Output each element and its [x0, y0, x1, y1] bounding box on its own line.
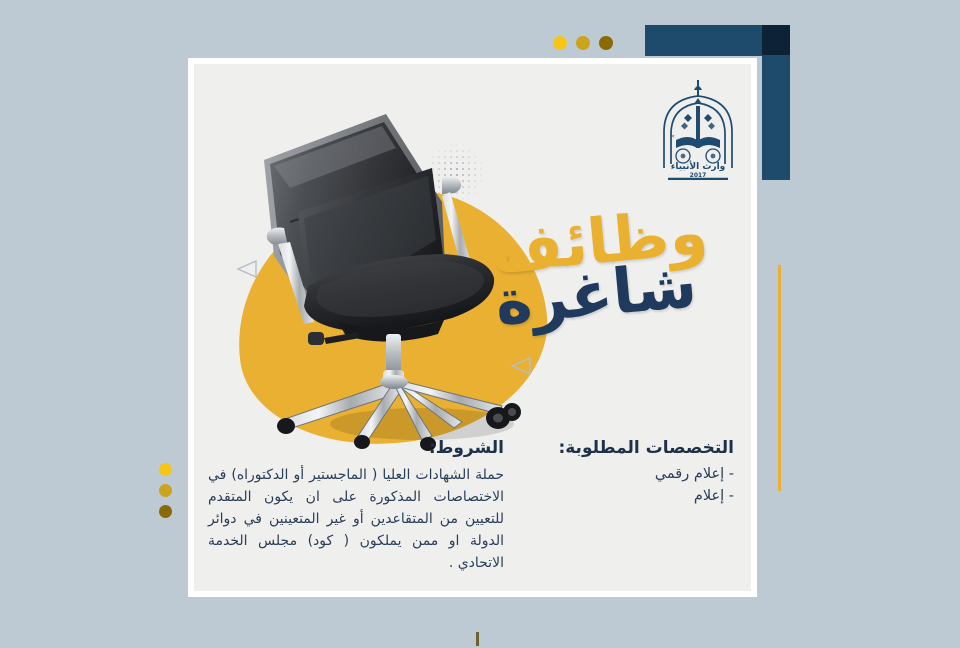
dot-dark-gold-icon	[599, 36, 613, 50]
poster-card-inner: UNIVERSITY OF WARITH AL-ANBIYAA	[194, 64, 751, 591]
dot-gold-icon	[576, 36, 590, 50]
navy-vertical-bar-decoration	[762, 55, 790, 180]
navy-square-decoration	[762, 25, 790, 55]
terms-body: حملة الشهادات العليا ( الماجستير أو الدك…	[208, 464, 504, 575]
specializations-title: التخصصات المطلوبة:	[534, 438, 734, 458]
dot-yellow-icon	[553, 36, 567, 50]
navy-bar-decoration	[645, 25, 762, 56]
university-of-warith-al-anbiyaa-logo: UNIVERSITY OF WARITH AL-ANBIYAA	[650, 76, 746, 180]
terms-title: الشروط:	[208, 438, 504, 458]
yellow-vertical-rule	[778, 265, 781, 491]
specializations-section: التخصصات المطلوبة: - إعلام رقمي - إعلام	[534, 438, 734, 508]
poster-headline: وظائف شاغرة	[488, 198, 751, 332]
headline-line-2: شاغرة	[493, 250, 751, 333]
terms-section: الشروط: حملة الشهادات العليا ( الماجستير…	[208, 438, 504, 575]
list-item: - إعلام	[534, 486, 734, 508]
dot-yellow-icon	[159, 463, 172, 476]
poster-card: UNIVERSITY OF WARITH AL-ANBIYAA	[188, 58, 757, 597]
list-item: - إعلام رقمي	[534, 464, 734, 486]
specializations-list: - إعلام رقمي - إعلام	[534, 464, 734, 508]
bottom-tick-mark	[476, 632, 479, 646]
dot-gold-icon	[159, 484, 172, 497]
logo-arabic-text: وارث الأنبياء	[671, 160, 726, 172]
dots-vertical-decoration	[159, 463, 172, 518]
dot-dark-gold-icon	[159, 505, 172, 518]
dots-horizontal-decoration	[553, 36, 613, 50]
vacancy-poster: UNIVERSITY OF WARITH AL-ANBIYAA	[0, 0, 960, 648]
